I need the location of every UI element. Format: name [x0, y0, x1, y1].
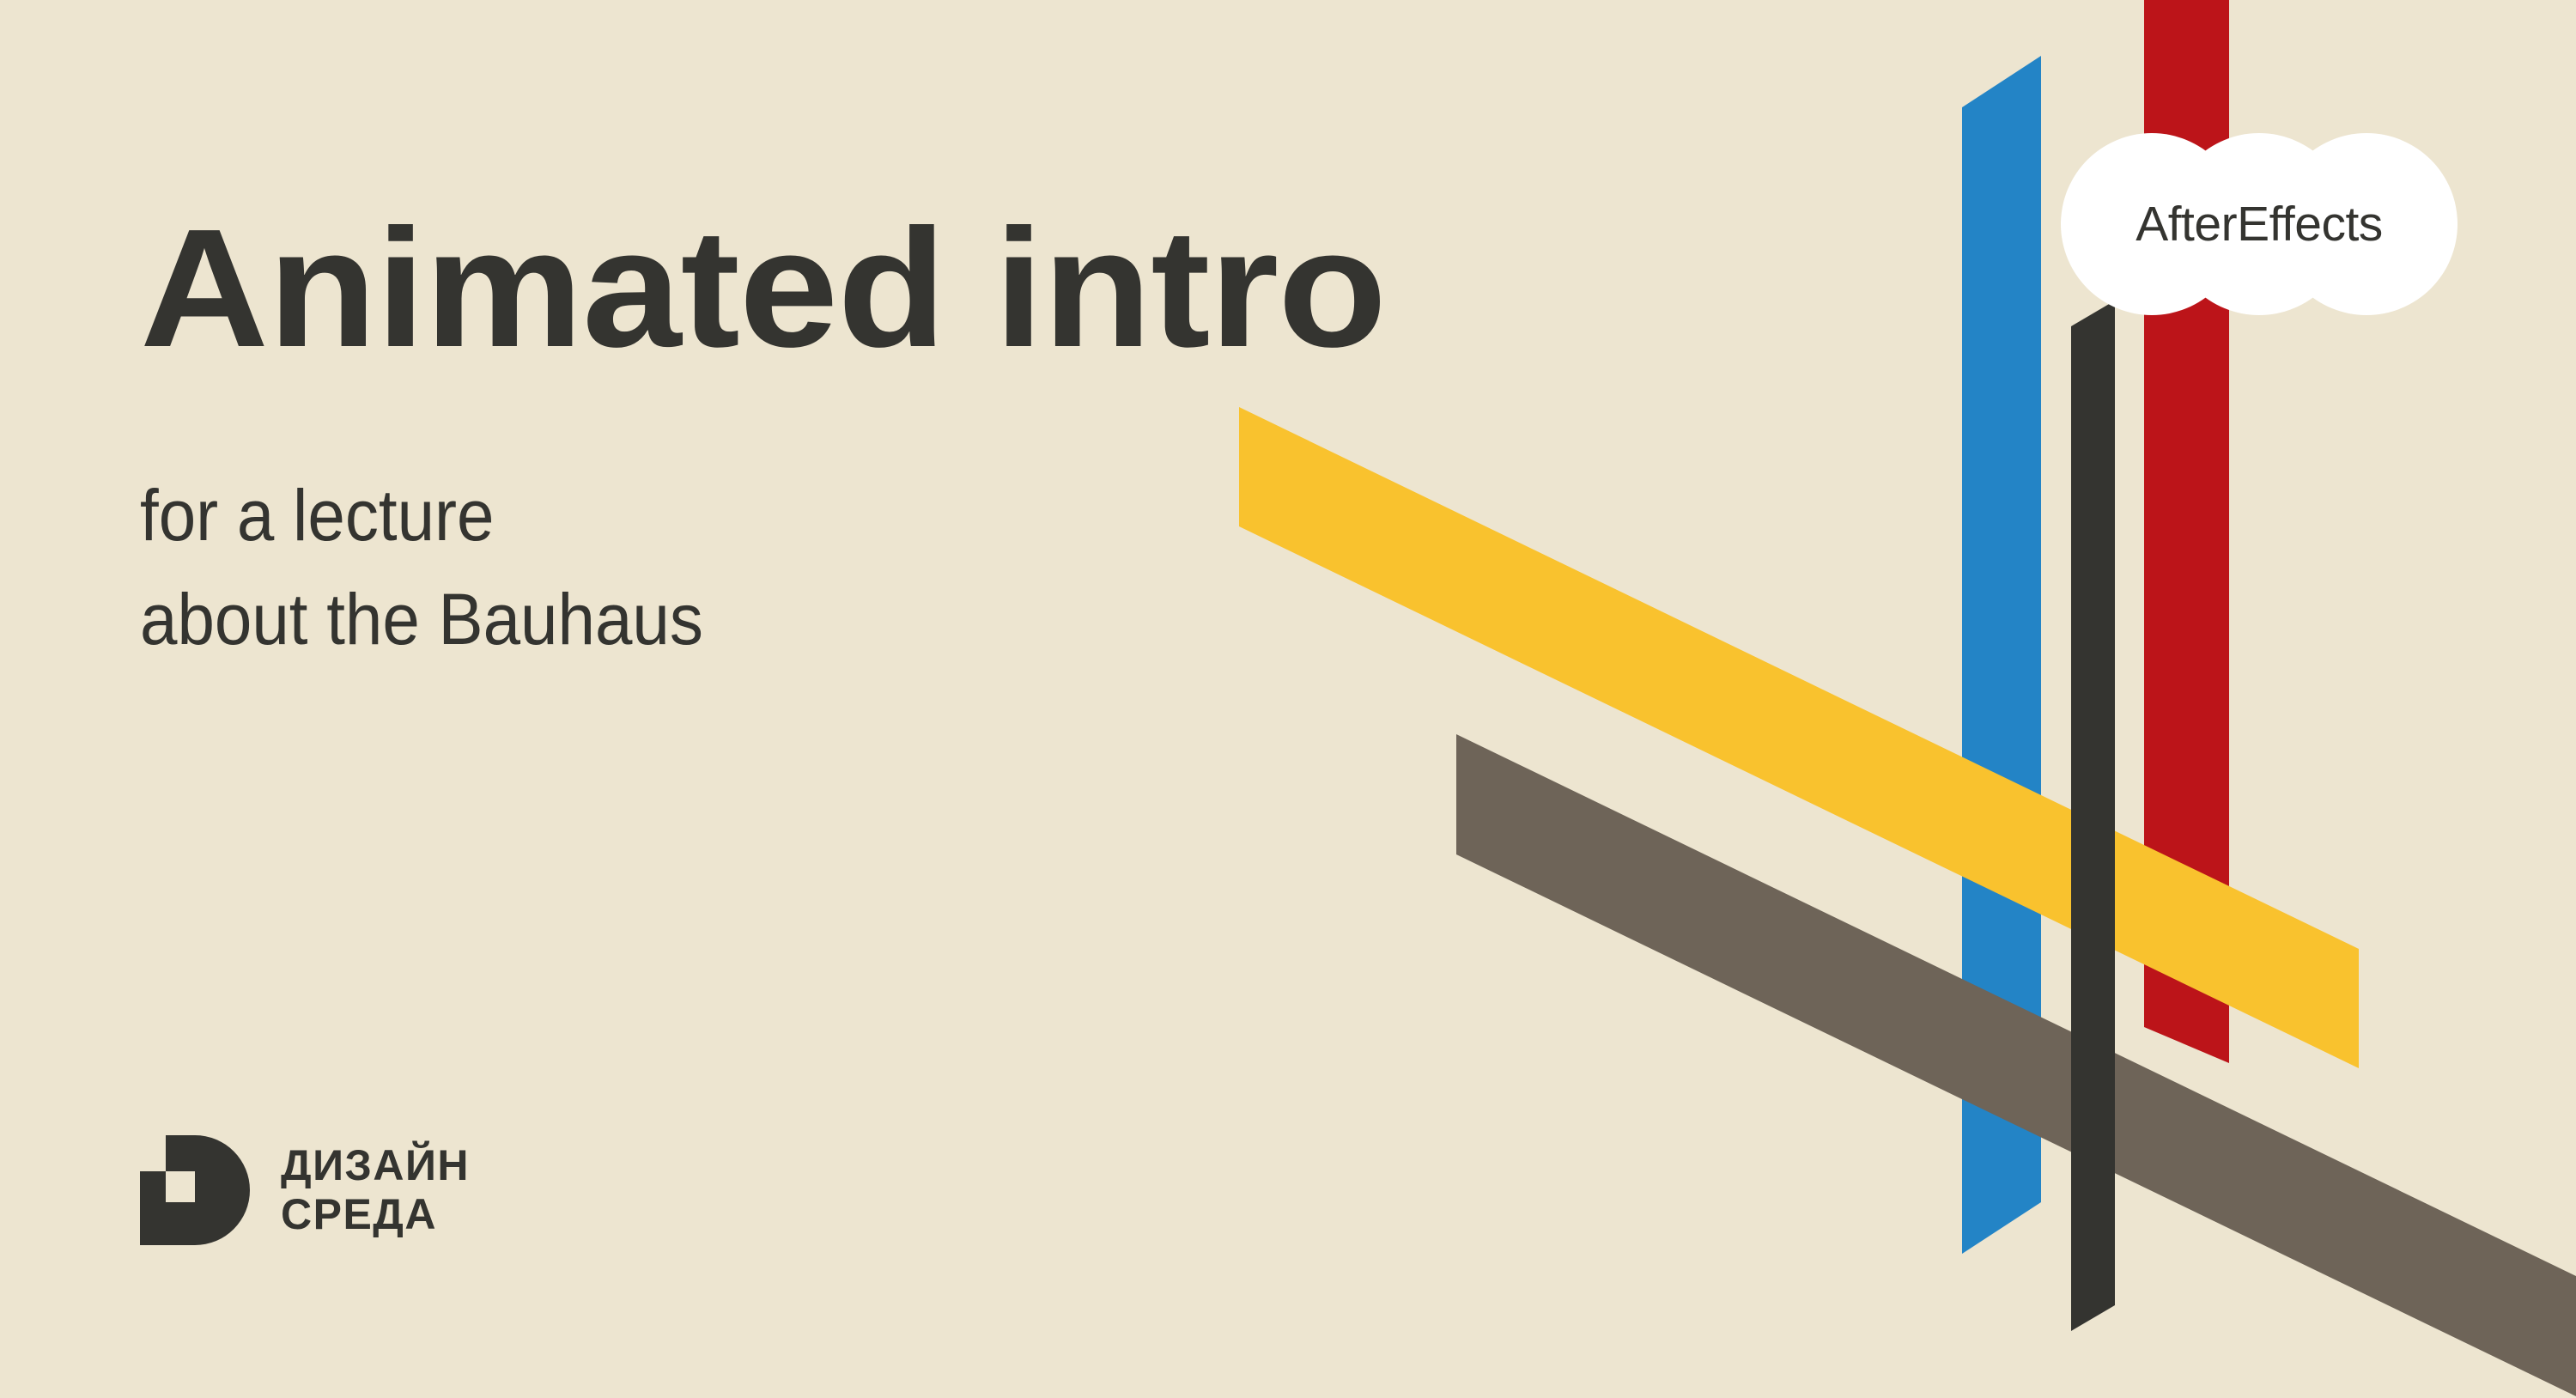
subtitle-line-1: for a lecture [140, 464, 1233, 568]
design-sreda-logo-icon [140, 1135, 250, 1245]
brand-lockup[interactable]: ДИЗАЙН СРЕДА [140, 1135, 470, 1245]
taupe-diagonal-band [1456, 734, 2576, 1396]
dark-vertical-bar [2071, 301, 2115, 1331]
text-block: Animated intro for a lecture about the B… [140, 204, 1315, 672]
brand-line-1: ДИЗАЙН [281, 1141, 470, 1190]
subtitle-line-2: about the Bauhaus [140, 568, 1233, 672]
poster-canvas: Animated intro for a lecture about the B… [0, 0, 2576, 1398]
page-subtitle: for a lecture about the Bauhaus [140, 373, 1233, 672]
badge-label: AfterEffects [2061, 133, 2458, 315]
brand-name: ДИЗАЙН СРЕДА [281, 1141, 470, 1239]
blue-vertical-bar [1962, 56, 2041, 1254]
brand-line-2: СРЕДА [281, 1190, 470, 1239]
page-title: Animated intro [140, 204, 1386, 373]
yellow-diagonal-band [1239, 407, 2359, 1068]
after-effects-badge[interactable]: AfterEffects [2061, 133, 2458, 315]
